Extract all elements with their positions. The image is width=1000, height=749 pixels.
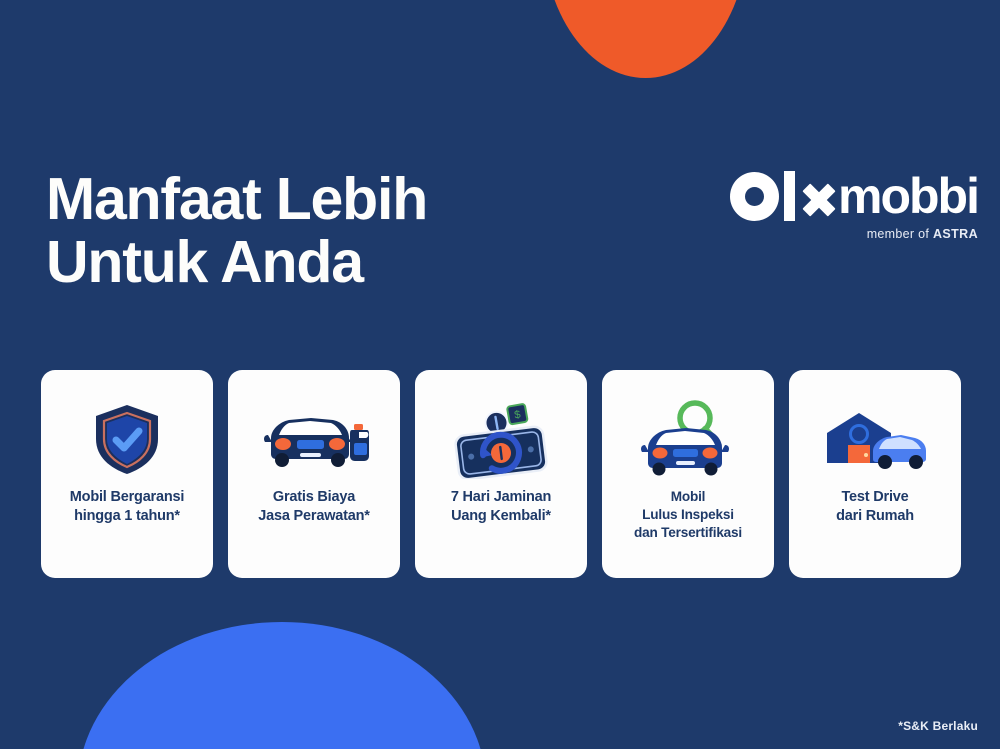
promo-banner: Manfaat Lebih Untuk Anda mobbi member of… [0, 0, 1000, 749]
benefit-card-free-service[interactable]: Gratis Biaya Jasa Perawatan* [228, 370, 400, 578]
benefit-card-label-line-1: Mobil [634, 488, 742, 506]
page-title-line-1: Manfaat Lebih [46, 168, 566, 231]
benefit-card-label: 7 Hari Jaminan Uang Kembali* [443, 488, 559, 527]
logo-letter-x-icon [802, 184, 835, 217]
benefit-card-money-back[interactable]: $ 7 Hari Jaminan [415, 370, 587, 578]
car-inspection-icon [640, 396, 736, 482]
decorative-orange-circle [543, 0, 748, 78]
logo-tagline-brand: ASTRA [933, 227, 978, 241]
benefit-card-label-line-1: Gratis Biaya [258, 488, 369, 507]
benefit-card-warranty[interactable]: Mobil Bergaransi hingga 1 tahun* [41, 370, 213, 578]
benefit-card-label: Gratis Biaya Jasa Perawatan* [250, 488, 377, 527]
page-title: Manfaat Lebih Untuk Anda [46, 168, 566, 294]
benefit-card-label-line-1: Mobil Bergaransi [70, 488, 184, 507]
benefit-card-inspection[interactable]: Mobil Lulus Inspeksi dan Tersertifikasi [602, 370, 774, 578]
benefit-card-list: Mobil Bergaransi hingga 1 tahun* [41, 370, 961, 578]
benefit-card-label-line-1: 7 Hari Jaminan [451, 488, 551, 507]
logo-tagline: member of ASTRA [730, 227, 978, 241]
brand-logo: mobbi member of ASTRA [730, 170, 978, 241]
logo-wordmark: mobbi [838, 171, 978, 221]
benefit-card-label-line-2: Lulus Inspeksi [634, 506, 742, 524]
logo-tagline-prefix: member of [867, 227, 933, 241]
benefit-card-label-line-2: dari Rumah [836, 507, 914, 526]
benefit-card-test-drive[interactable]: Test Drive dari Rumah [789, 370, 961, 578]
car-oil-service-icon [259, 396, 369, 482]
home-test-drive-icon [821, 396, 929, 482]
logo-mark: mobbi [730, 170, 978, 222]
benefit-card-label-line-2: hingga 1 tahun* [70, 507, 184, 526]
footnote-terms: *S&K Berlaku [898, 719, 978, 733]
logo-letter-o-icon [730, 172, 779, 221]
benefit-card-label: Test Drive dari Rumah [828, 488, 922, 527]
benefit-card-label-line-2: Jasa Perawatan* [258, 507, 369, 526]
page-title-line-2: Untuk Anda [46, 231, 566, 294]
money-back-icon: $ [447, 396, 555, 482]
benefit-card-label-line-1: Test Drive [836, 488, 914, 507]
benefit-card-label: Mobil Lulus Inspeksi dan Tersertifikasi [626, 488, 750, 543]
shield-check-icon [90, 396, 164, 482]
decorative-blue-circle [78, 622, 486, 749]
benefit-card-label-line-2: Uang Kembali* [451, 507, 551, 526]
benefit-card-label: Mobil Bergaransi hingga 1 tahun* [62, 488, 192, 527]
logo-letter-l-icon [784, 171, 795, 221]
benefit-card-label-line-3: dan Tersertifikasi [634, 524, 742, 542]
